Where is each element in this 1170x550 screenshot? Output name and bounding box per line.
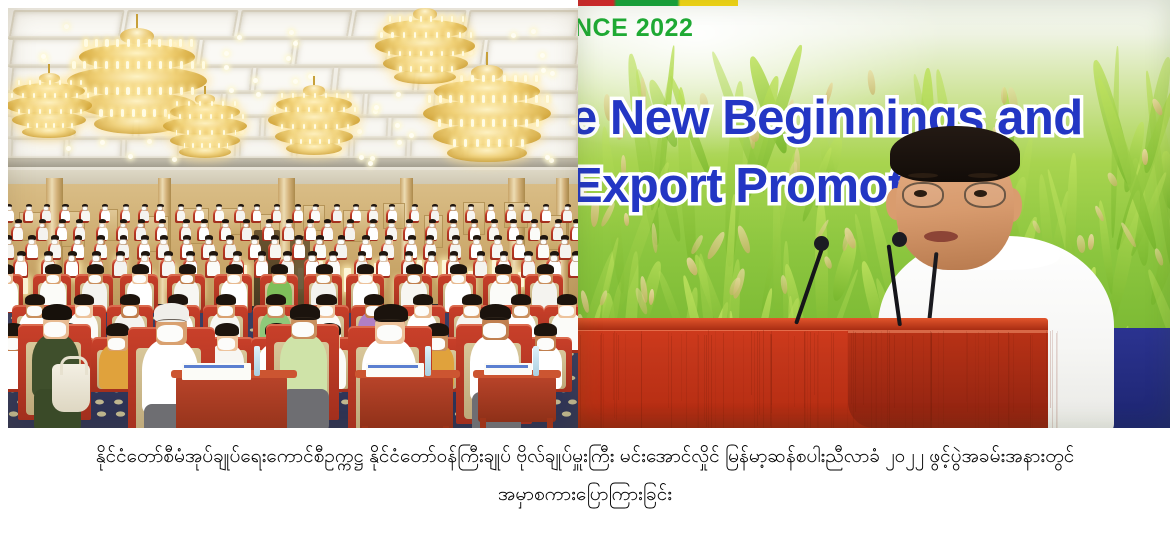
photo-strip: NCE 2022 e New Beginnings and Export Pro… xyxy=(0,0,1170,430)
wood-grain-line xyxy=(938,332,939,428)
wood-grain-line xyxy=(600,335,601,428)
chandelier-bulb xyxy=(281,124,283,129)
face-mask xyxy=(453,240,458,244)
audience-body xyxy=(333,210,342,221)
table-leg xyxy=(443,426,449,428)
wood-grain-line xyxy=(708,330,709,428)
chandelier-bulb xyxy=(105,87,108,95)
chandelier-bulb xyxy=(328,139,330,144)
chandelier-bulb xyxy=(403,32,405,38)
wood-grain-line xyxy=(863,332,864,405)
chandelier-bulb xyxy=(297,107,299,112)
face-mask xyxy=(244,224,249,228)
chandelier-bulb xyxy=(148,39,151,47)
chandelier-bulb xyxy=(188,101,190,106)
chandelier-bulb xyxy=(164,109,167,117)
face-mask xyxy=(406,256,412,260)
wood-grain-line xyxy=(851,333,852,404)
face-mask xyxy=(489,207,493,210)
chandelier-bulb xyxy=(525,119,528,126)
face-mask xyxy=(495,240,500,244)
wood-grain-line xyxy=(814,333,815,396)
chandelier-bulb xyxy=(471,75,474,82)
audience-hair xyxy=(120,219,127,223)
audience-body xyxy=(27,243,38,258)
wood-grain-line xyxy=(616,333,617,420)
chandelier-bulb xyxy=(464,139,467,146)
chandelier-bulb xyxy=(116,87,119,95)
audience-body xyxy=(570,260,578,276)
face-mask xyxy=(27,306,42,316)
face-mask xyxy=(429,256,435,260)
wood-grain-line xyxy=(686,332,687,428)
audience-hair xyxy=(132,264,149,274)
chandelier-bulb xyxy=(399,51,401,57)
audience-hair xyxy=(495,264,512,274)
face-mask xyxy=(386,240,391,244)
downlight xyxy=(540,53,545,58)
face-mask xyxy=(18,256,24,260)
chandelier-bulb xyxy=(60,109,62,114)
chandelier-bulb xyxy=(49,109,51,114)
downlight xyxy=(368,161,373,166)
wood-grain-line xyxy=(1057,331,1058,428)
face-mask xyxy=(93,256,99,260)
chandelier-bulb xyxy=(83,61,86,69)
audience-hair xyxy=(266,294,286,305)
chandelier xyxy=(136,14,138,16)
audience-hair xyxy=(25,294,45,305)
chandelier-bulb xyxy=(503,119,506,126)
wood-grain-line xyxy=(641,331,642,428)
face-mask xyxy=(273,275,285,284)
face-mask xyxy=(206,240,211,244)
chandelier-bulb xyxy=(314,93,316,98)
wood-grain-line xyxy=(875,332,876,428)
downlight xyxy=(409,133,414,138)
chandelier-bulb xyxy=(168,114,170,119)
eyeglasses xyxy=(156,319,187,328)
audience-hair xyxy=(179,264,196,274)
chandelier-bulb xyxy=(462,16,464,22)
banner-green-text: NCE 2022 xyxy=(578,14,693,43)
face-mask xyxy=(338,240,343,244)
chandelier-bulb xyxy=(39,80,41,85)
audience-hair xyxy=(406,219,413,223)
wood-grain-line xyxy=(759,332,760,416)
chandelier-bulb xyxy=(28,109,30,114)
chandelier-bulb xyxy=(320,107,322,112)
document-band xyxy=(184,365,244,368)
face-mask xyxy=(59,224,64,228)
wood-grain-line xyxy=(978,332,979,428)
face-mask xyxy=(228,275,240,284)
chandelier-bulb xyxy=(94,61,97,69)
face-mask xyxy=(124,207,128,210)
face-mask xyxy=(27,207,31,210)
chandelier-bulb xyxy=(343,107,345,112)
face-mask xyxy=(541,240,546,244)
face-mask xyxy=(76,306,91,316)
face-mask xyxy=(559,306,574,316)
microphone-head-right xyxy=(892,232,907,247)
chandelier-bulb xyxy=(159,87,162,95)
wood-grain-line xyxy=(912,336,913,428)
chandelier-bulb xyxy=(449,119,452,126)
face-mask xyxy=(227,240,232,244)
chandelier-bulb xyxy=(460,119,463,126)
audience-body xyxy=(13,227,23,240)
chandelier-bulb xyxy=(95,39,98,47)
audience-hair xyxy=(8,264,14,274)
chandelier-bulb xyxy=(76,93,78,98)
front-row-body xyxy=(280,334,327,396)
wood-grain-line xyxy=(613,333,614,399)
wood-grain-line xyxy=(603,334,604,429)
downlight xyxy=(224,65,229,70)
wood-grain-line xyxy=(894,335,895,408)
handbag-strap xyxy=(60,356,88,375)
audience-hair xyxy=(87,264,104,274)
face-mask xyxy=(464,306,479,316)
chandelier-bulb xyxy=(536,119,539,126)
chandelier-bulb xyxy=(70,80,72,85)
audience-body xyxy=(538,243,549,258)
chandelier-bulb xyxy=(441,51,443,57)
chandelier-bulb xyxy=(180,87,183,95)
audience-hair xyxy=(159,219,166,223)
face-mask xyxy=(389,224,394,228)
face-mask xyxy=(469,207,473,210)
face-mask xyxy=(218,338,235,350)
audience-hair xyxy=(491,219,498,223)
audience-hair xyxy=(183,219,190,223)
face-mask xyxy=(430,224,435,228)
face-mask xyxy=(415,306,430,316)
audience-body xyxy=(8,210,14,221)
chandelier-bulb xyxy=(116,61,119,69)
wood-grain-line xyxy=(905,333,906,429)
audience-body xyxy=(284,227,294,240)
face-mask xyxy=(181,275,193,284)
chandelier-bulb xyxy=(430,51,432,57)
chandelier-bulb xyxy=(471,95,474,102)
chandelier-bulb xyxy=(303,124,305,129)
audience-hair xyxy=(216,294,236,305)
audience-body xyxy=(336,243,347,258)
chandelier-bulb xyxy=(399,66,401,72)
chandelier-bulb xyxy=(514,119,517,126)
audience-hair xyxy=(99,219,106,223)
wood-grain-line xyxy=(794,336,795,408)
face-mask xyxy=(201,224,206,228)
chandelier-bulb xyxy=(84,39,87,47)
face-mask xyxy=(142,240,147,244)
wood-grain-line xyxy=(681,334,682,401)
chandelier-bulb xyxy=(189,114,191,119)
downlight xyxy=(357,129,362,134)
face-mask xyxy=(555,224,560,228)
audience-hair xyxy=(370,219,377,223)
audience-hair xyxy=(39,219,46,223)
downlight xyxy=(397,140,402,145)
downlight xyxy=(395,123,400,128)
audience-body xyxy=(572,227,578,240)
chandelier xyxy=(486,52,488,54)
face-mask xyxy=(142,256,148,260)
wood-grain-line xyxy=(733,331,734,428)
chandelier-bulb xyxy=(420,66,422,72)
wood-grain-line xyxy=(998,332,999,429)
wood-grain-line xyxy=(887,330,888,428)
face-mask xyxy=(138,224,143,228)
chandelier-bulb xyxy=(391,32,393,38)
audience-hair xyxy=(347,219,354,223)
downlight xyxy=(531,29,536,34)
face-mask xyxy=(309,256,315,260)
audience-body xyxy=(253,210,262,221)
wood-grain-line xyxy=(930,331,931,428)
audience-hair xyxy=(201,219,208,223)
face-mask xyxy=(319,306,334,316)
face-mask xyxy=(120,240,125,244)
wood-grain-line xyxy=(1046,331,1047,397)
chandelier-bulb xyxy=(87,93,89,98)
face-mask xyxy=(325,224,330,228)
face-mask xyxy=(123,306,138,316)
audience-hair xyxy=(364,294,384,305)
chandelier-bulb xyxy=(180,61,183,69)
face-mask xyxy=(472,224,477,228)
face-mask xyxy=(187,256,193,260)
chandelier-bulb xyxy=(439,95,442,102)
chandelier-bulb xyxy=(325,93,327,98)
chandelier-bulb xyxy=(218,143,220,148)
face-mask xyxy=(532,224,537,228)
wood-grain-line xyxy=(943,331,944,424)
face-mask xyxy=(574,224,578,228)
wood-grain-line xyxy=(706,335,707,427)
chandelier-bulb xyxy=(234,101,236,106)
chandelier-bulb xyxy=(211,130,213,135)
document-band xyxy=(368,365,418,368)
audience-hair xyxy=(286,219,293,223)
chandelier-bulb xyxy=(126,61,129,69)
audience-body xyxy=(270,243,281,258)
audience-hair xyxy=(271,264,288,274)
chandelier-bulb xyxy=(210,114,212,119)
chandelier-bulb xyxy=(70,109,72,114)
chandelier-bulb xyxy=(211,101,213,106)
chandelier-bulb xyxy=(148,87,151,95)
wood-grain-line xyxy=(671,336,672,429)
face-mask xyxy=(497,275,509,284)
wood-grain-line xyxy=(810,332,811,428)
chandelier-bulb xyxy=(447,32,449,38)
audience-hair xyxy=(413,294,433,305)
downlight xyxy=(550,71,555,76)
conference-hall-audience-photo xyxy=(8,8,578,428)
chandelier-bulb xyxy=(399,16,401,22)
chandelier-bulb xyxy=(11,93,13,98)
audience-hair xyxy=(266,219,273,223)
chandelier-bulb xyxy=(72,61,75,69)
chandelier-bulb xyxy=(142,109,145,117)
face-mask xyxy=(363,240,368,244)
chandelier-bulb xyxy=(39,109,41,114)
wood-grain-line xyxy=(833,333,834,428)
face-mask xyxy=(69,256,75,260)
wood-grain-line xyxy=(757,331,758,427)
speaker-mouth xyxy=(924,231,958,242)
face-mask xyxy=(539,275,551,284)
chandelier-bulb xyxy=(470,32,472,38)
chandelier-bulb xyxy=(380,32,382,38)
chandelier-bulb xyxy=(80,80,82,85)
face-mask xyxy=(108,338,125,350)
face-mask xyxy=(525,256,531,260)
face-mask xyxy=(433,207,437,210)
wood-grain-line xyxy=(698,335,699,429)
audience-hair xyxy=(138,219,145,223)
chandelier-bulb xyxy=(425,32,427,38)
downlight xyxy=(359,155,364,160)
chandelier-bulb xyxy=(420,51,422,57)
wood-grain-line xyxy=(847,330,848,428)
audience-hair xyxy=(450,264,467,274)
chandelier-bulb xyxy=(121,109,124,117)
audience-body xyxy=(323,227,333,240)
side-table xyxy=(176,376,287,428)
chandelier-bulb xyxy=(126,87,129,95)
chandelier-bulb xyxy=(200,114,202,119)
chandelier-bulb xyxy=(460,75,463,82)
face-mask xyxy=(218,306,233,316)
face-mask xyxy=(370,224,375,228)
chandelier-bulb xyxy=(159,61,162,69)
chandelier-bulb xyxy=(179,39,182,47)
face-mask xyxy=(317,275,329,284)
audience-hair xyxy=(357,264,374,274)
wood-grain-line xyxy=(715,331,716,428)
wood-grain-line xyxy=(871,332,872,428)
speaker-brow-right xyxy=(968,173,998,178)
chandelier-bulb xyxy=(199,101,201,106)
chandelier-bulb xyxy=(59,80,61,85)
eyeglasses xyxy=(375,319,405,328)
audience-hair xyxy=(316,294,336,305)
audience-hair xyxy=(511,294,531,305)
chandelier-bulb xyxy=(319,139,321,144)
face-mask xyxy=(408,275,420,284)
face-mask xyxy=(474,240,479,244)
face-mask xyxy=(121,224,126,228)
chandelier-bulb xyxy=(191,87,194,95)
chandelier-bulb xyxy=(127,39,130,47)
chandelier xyxy=(313,76,315,78)
chandelier-bulb xyxy=(221,114,223,119)
chandelier-bulb xyxy=(105,61,108,69)
audience-body xyxy=(560,243,571,258)
wood-grain-line xyxy=(1030,335,1031,428)
face-mask xyxy=(450,256,456,260)
face-mask xyxy=(179,207,183,210)
chandelier-bulb xyxy=(209,143,211,148)
chandelier-bulb xyxy=(62,123,64,128)
audience-hair xyxy=(307,219,314,223)
speaker-eye-right xyxy=(974,190,987,197)
wood-grain-line xyxy=(853,331,854,428)
chandelier-bulb xyxy=(546,95,549,102)
front-row-hair xyxy=(42,304,72,320)
water-bottle xyxy=(425,346,431,376)
chandelier-bulb xyxy=(521,139,524,146)
chandelier-crown xyxy=(413,8,438,20)
audience-body xyxy=(563,210,572,221)
face-mask xyxy=(359,256,365,260)
face-mask xyxy=(8,240,11,244)
wood-grain-line xyxy=(807,331,808,428)
wood-grain-line xyxy=(711,335,712,428)
face-mask xyxy=(451,224,456,228)
chandelier-bulb xyxy=(110,109,113,117)
wall-lamp xyxy=(22,278,28,294)
chandelier-bulb xyxy=(420,16,422,22)
downlight xyxy=(100,140,105,145)
wood-grain-line xyxy=(1050,331,1051,409)
table-leg xyxy=(362,426,368,428)
face-mask xyxy=(275,207,279,210)
chandelier-bulb xyxy=(535,95,538,102)
chandelier-bulb xyxy=(487,139,490,146)
face-mask xyxy=(133,275,145,284)
chandelier-crown xyxy=(471,65,502,80)
audience-hair xyxy=(243,219,250,223)
chandelier-bulb xyxy=(492,75,495,82)
flag-color-stripe xyxy=(578,0,738,6)
face-mask xyxy=(286,224,291,228)
face-mask xyxy=(347,224,352,228)
chandelier-bulb xyxy=(105,39,108,47)
downlight xyxy=(229,88,234,93)
chandelier-bulb xyxy=(292,124,294,129)
wood-grain-line xyxy=(985,330,986,423)
face-mask xyxy=(501,256,507,260)
audience-body xyxy=(530,227,540,240)
wood-grain-line xyxy=(754,333,755,429)
wood-grain-line xyxy=(580,335,581,428)
speaker-eye-left xyxy=(914,190,927,197)
chandelier-bulb xyxy=(94,87,97,95)
audience-hair xyxy=(15,219,22,223)
face-mask xyxy=(354,207,358,210)
chandelier-bulb xyxy=(33,93,35,98)
wood-grain-line xyxy=(668,332,669,408)
front-row-longyi xyxy=(282,389,329,428)
wood-grain-line xyxy=(975,334,976,428)
audience-hair xyxy=(534,323,558,336)
table-leg xyxy=(480,418,486,428)
face-mask xyxy=(47,275,59,284)
downlight xyxy=(571,120,576,125)
chandelier-bulb xyxy=(338,139,340,144)
chandelier-bulb xyxy=(482,95,485,102)
face-mask xyxy=(45,256,51,260)
chandelier-bulb xyxy=(428,95,431,102)
chandelier-bulb xyxy=(192,143,194,148)
chandelier-bulb xyxy=(503,75,506,82)
audience-hair xyxy=(215,323,239,336)
